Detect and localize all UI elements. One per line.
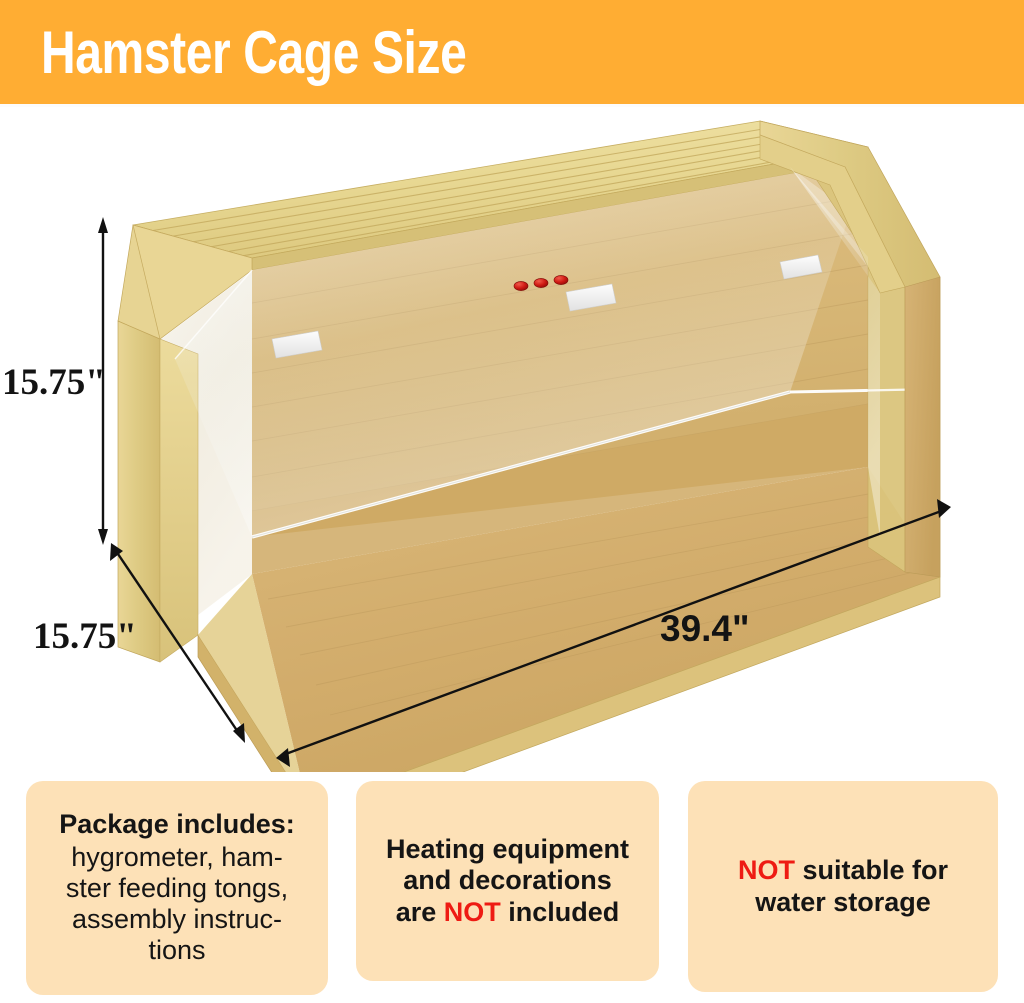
package-includes-heading: Package includes: (59, 809, 295, 840)
package-includes-line-3: assembly instruc- (72, 904, 282, 935)
infographic-page: Hamster Cage Size (0, 0, 1024, 1003)
not-emphasis: NOT (444, 897, 501, 927)
heating-line-1: Heating equipment (386, 834, 629, 865)
dimension-label-depth: 15.75" (33, 615, 137, 658)
cage-illustration (0, 107, 1024, 772)
dimension-label-height: 15.75" (2, 361, 106, 404)
page-title: Hamster Cage Size (41, 22, 466, 84)
dimension-label-width: 39.4" (660, 608, 750, 650)
info-box-heating-not-included: Heating equipment and decorations are NO… (356, 781, 659, 981)
water-line-2: water storage (755, 887, 931, 918)
info-boxes-row: Package includes: hygrometer, ham- ster … (0, 781, 1024, 1003)
package-includes-line-4: tions (148, 935, 205, 966)
not-emphasis: NOT (738, 855, 795, 885)
water-line-1: NOT suitable for (738, 855, 948, 886)
heating-line-3: are NOT included (396, 897, 620, 928)
package-includes-line-2: ster feeding tongs, (66, 873, 288, 904)
heating-line-2: and decorations (403, 865, 612, 896)
package-includes-line-1: hygrometer, ham- (71, 842, 283, 873)
info-box-not-for-water: NOT suitable for water storage (688, 781, 998, 992)
info-box-package-includes: Package includes: hygrometer, ham- ster … (26, 781, 328, 995)
